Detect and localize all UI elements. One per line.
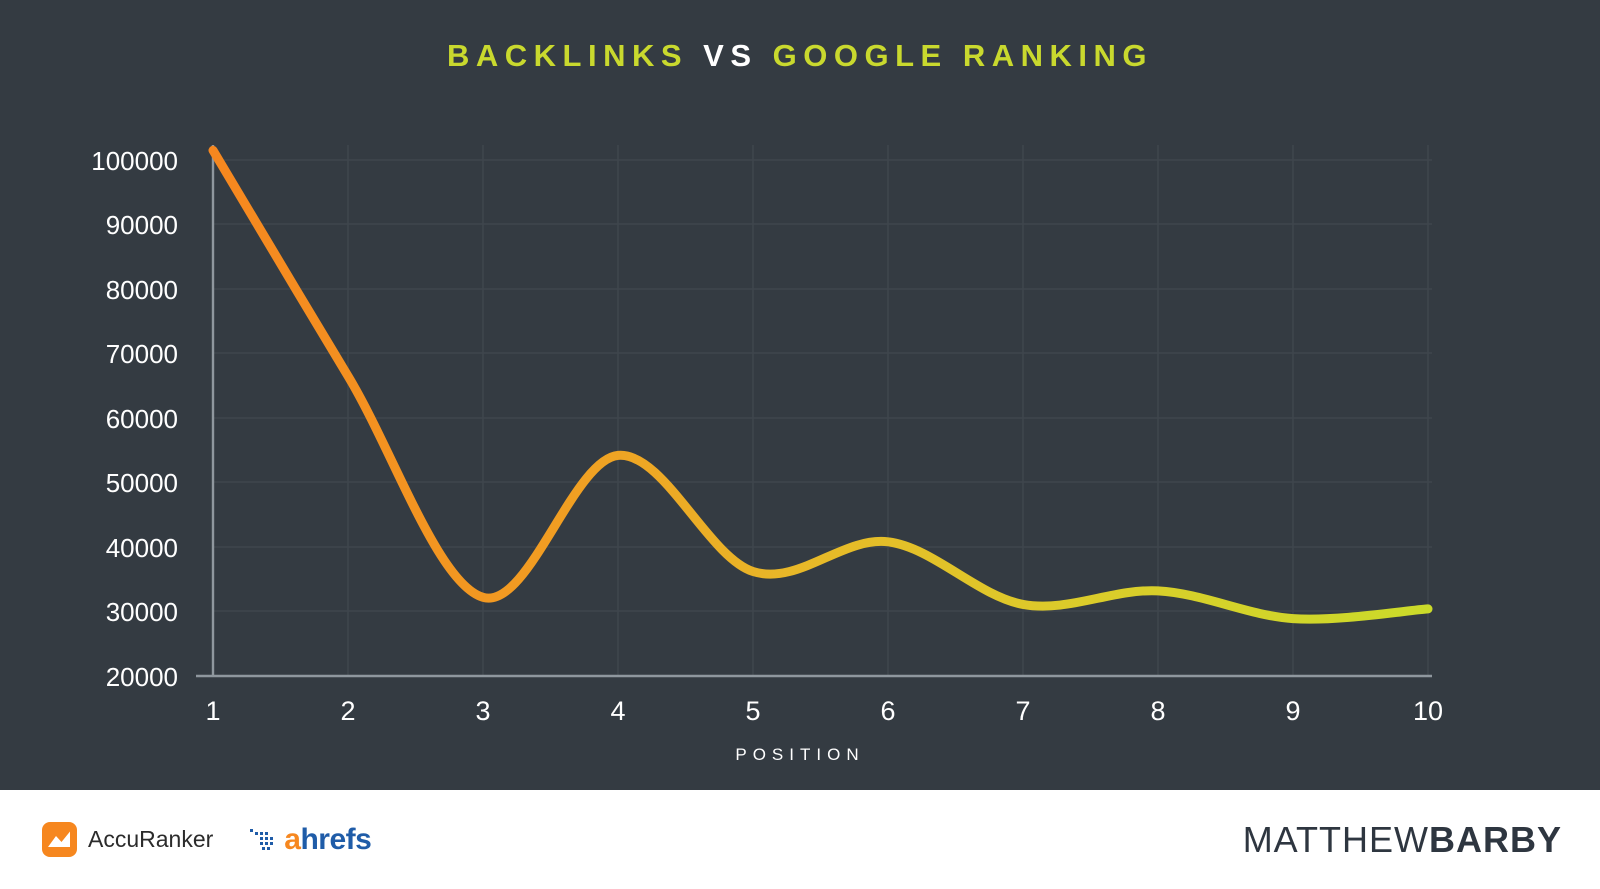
x-tick-label: 7 <box>1015 696 1030 726</box>
x-tick-label: 9 <box>1285 696 1300 726</box>
brand-second-word: BARBY <box>1429 819 1562 860</box>
y-tick-label: 40000 <box>106 533 178 563</box>
footer-bar: AccuRanker <box>0 790 1600 889</box>
y-tick-label: 50000 <box>106 468 178 498</box>
gridlines-horizontal <box>213 160 1432 611</box>
y-tick-label: 20000 <box>106 662 178 692</box>
y-tick-label: 60000 <box>106 404 178 434</box>
x-tick-label: 10 <box>1413 696 1443 726</box>
accuranker-wordmark: AccuRanker <box>88 826 213 853</box>
x-axis-title: POSITION <box>0 745 1600 765</box>
chart-panel: BACKLINKS VS GOOGLE RANKING <box>0 0 1600 790</box>
series-line-backlinks <box>213 150 1428 619</box>
ahrefs-letters-rest: hrefs <box>300 823 371 856</box>
footer-logos: AccuRanker <box>42 790 371 889</box>
brand-logo[interactable]: MATTHEWBARBY <box>1243 790 1562 889</box>
x-tick-label: 6 <box>880 696 895 726</box>
x-tick-labels: 1 2 3 4 5 6 7 8 9 10 <box>205 696 1443 726</box>
brand-first-word: MATTHEW <box>1243 819 1429 860</box>
x-tick-label: 1 <box>205 696 220 726</box>
y-tick-label: 30000 <box>106 597 178 627</box>
x-tick-label: 4 <box>610 696 625 726</box>
y-tick-labels: 100000 90000 80000 70000 60000 50000 400… <box>91 146 178 692</box>
y-tick-label: 90000 <box>106 210 178 240</box>
accuranker-logo[interactable]: AccuRanker <box>42 822 213 857</box>
infographic-root: BACKLINKS VS GOOGLE RANKING <box>0 0 1600 889</box>
x-tick-label: 5 <box>745 696 760 726</box>
y-tick-label: 70000 <box>106 339 178 369</box>
accuranker-logo-icon <box>42 822 77 857</box>
ahrefs-dots-icon <box>249 826 275 854</box>
ahrefs-logo[interactable]: ahrefs <box>249 823 371 857</box>
x-tick-label: 2 <box>340 696 355 726</box>
y-tick-label: 80000 <box>106 275 178 305</box>
brand-wordmark: MATTHEWBARBY <box>1243 819 1562 861</box>
ahrefs-letter-a: a <box>284 823 300 856</box>
x-tick-label: 8 <box>1150 696 1165 726</box>
line-chart-svg: 100000 90000 80000 70000 60000 50000 400… <box>0 0 1600 790</box>
y-tick-label: 100000 <box>91 146 178 176</box>
ahrefs-wordmark: ahrefs <box>284 823 371 857</box>
x-tick-label: 3 <box>475 696 490 726</box>
